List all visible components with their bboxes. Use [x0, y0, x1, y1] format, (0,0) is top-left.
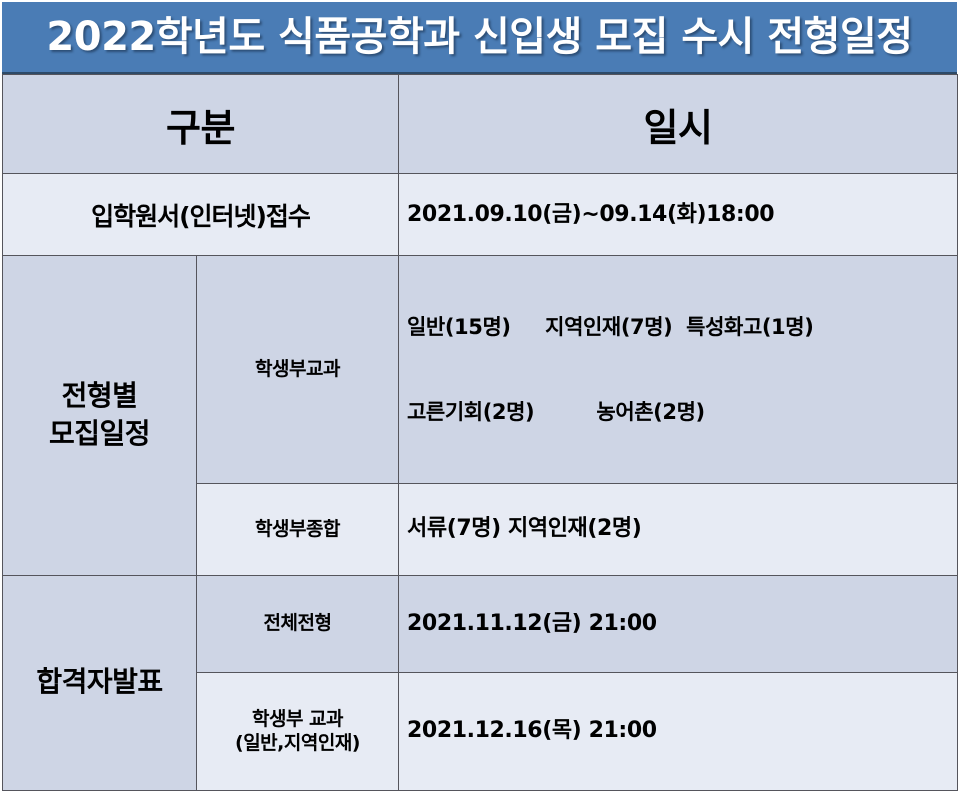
table-row: 전형별 모집일정 학생부교과 일반(15명) 지역인재(7명) 특성화고(1명)…: [3, 256, 958, 484]
row-value-gyogwa: 일반(15명) 지역인재(7명) 특성화고(1명) 고른기회(2명) 농어촌(2…: [399, 256, 958, 484]
schedule-sheet: 2022학년도 식품공학과 신입생 모집 수시 전형일정 구분 일시 입학원서(…: [0, 0, 960, 674]
row-sub-label-line-1: 학생부 교과: [205, 707, 390, 732]
table-header-row: 구분 일시: [3, 75, 958, 174]
row-group-line-2: 모집일정: [11, 415, 188, 454]
row-group-admission-schedule: 전형별 모집일정: [3, 256, 197, 576]
page-title: 2022학년도 식품공학과 신입생 모집 수시 전형일정: [46, 17, 912, 57]
title-banner: 2022학년도 식품공학과 신입생 모집 수시 전형일정: [2, 2, 957, 74]
row-value-all-types: 2021.11.12(금) 21:00: [399, 575, 958, 672]
table-row: 입학원서(인터넷)접수 2021.09.10(금)~09.14(화)18:00: [3, 174, 958, 256]
row-group-results-announcement: 합격자발표: [3, 575, 197, 790]
admissions-schedule-table: 구분 일시 입학원서(인터넷)접수 2021.09.10(금)~09.14(화)…: [2, 74, 958, 791]
header-cell-category: 구분: [3, 75, 399, 174]
row-value-gyogwa-line-2: 고른기회(2명) 농어촌(2명): [407, 398, 949, 426]
row-sub-label-jonghap: 학생부종합: [197, 483, 399, 575]
row-sub-label-gyogwa-detail: 학생부 교과 (일반,지역인재): [197, 672, 399, 790]
row-value-gyogwa-line-1: 일반(15명) 지역인재(7명) 특성화고(1명): [407, 313, 949, 341]
row-label-application: 입학원서(인터넷)접수: [3, 174, 399, 256]
header-cell-datetime: 일시: [399, 75, 958, 174]
row-value-gyogwa-detail: 2021.12.16(목) 21:00: [399, 672, 958, 790]
row-sub-label-line-2: (일반,지역인재): [205, 731, 390, 756]
row-group-line-1: 전형별: [11, 377, 188, 416]
row-value-jonghap: 서류(7명) 지역인재(2명): [399, 483, 958, 575]
table-row: 합격자발표 전체전형 2021.11.12(금) 21:00: [3, 575, 958, 672]
row-sub-label-all-types: 전체전형: [197, 575, 399, 672]
row-sub-label-gyogwa: 학생부교과: [197, 256, 399, 484]
row-value-application: 2021.09.10(금)~09.14(화)18:00: [399, 174, 958, 256]
